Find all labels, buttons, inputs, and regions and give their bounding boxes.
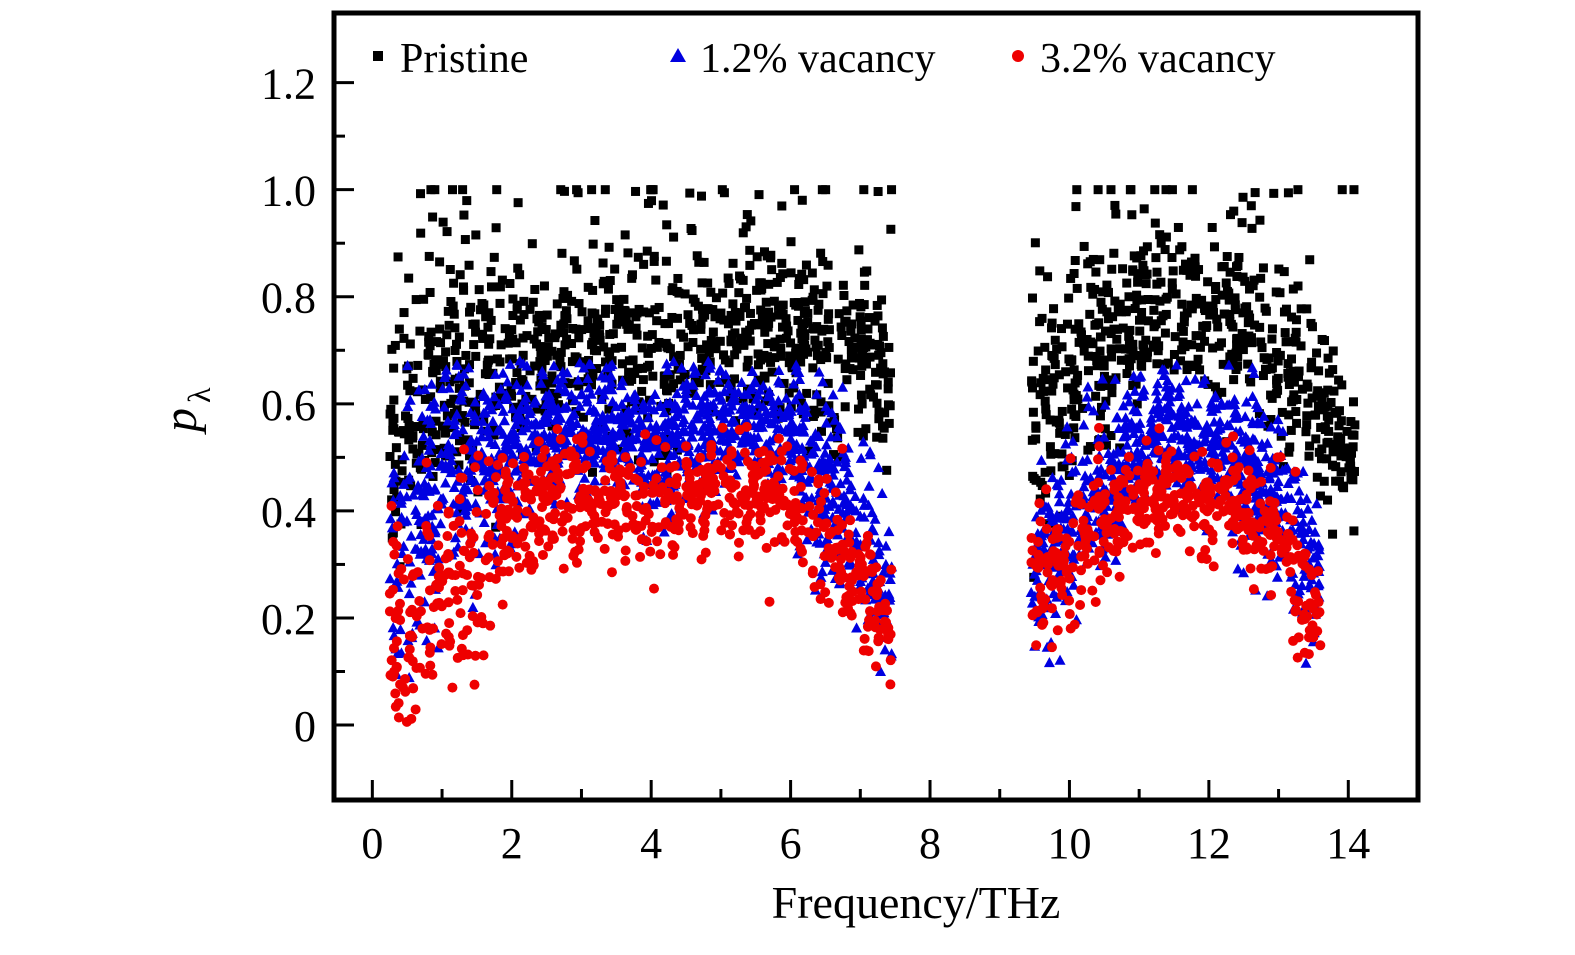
legend-label: Pristine <box>400 36 528 82</box>
x-tick-label: 4 <box>640 819 662 868</box>
x-tick-label: 12 <box>1187 819 1231 868</box>
legend-item-3[interactable]: 3.2% vacancy <box>1012 36 1276 82</box>
legend-layer: Pristine1.2% vacancy3.2% vacancy <box>373 36 1276 82</box>
y-tick-label: 0.4 <box>261 488 316 537</box>
y-tick-label: 0.2 <box>261 595 316 644</box>
y-axis-title-subscript: λ <box>181 387 217 403</box>
x-tick-label: 6 <box>780 819 802 868</box>
x-tick-label: 14 <box>1326 819 1370 868</box>
scatter-plot: Pristine1.2% vacancy3.2% vacancy 0246810… <box>0 0 1575 955</box>
x-tick-label: 8 <box>919 819 941 868</box>
legend-label: 3.2% vacancy <box>1040 36 1276 82</box>
y-tick-label: 1.2 <box>261 60 316 109</box>
y-tick-label: 1.0 <box>261 167 316 216</box>
x-tick-label: 10 <box>1047 819 1091 868</box>
y-tick-label: 0 <box>294 702 316 751</box>
legend-marker-circle <box>1012 50 1024 62</box>
y-tick-label: 0.8 <box>261 274 316 323</box>
x-axis-title: Frequency/THz <box>772 877 1061 928</box>
legend-label: 1.2% vacancy <box>700 36 936 82</box>
phonon-participation-ratio-figure: Pristine1.2% vacancy3.2% vacancy 0246810… <box>0 0 1575 955</box>
legend-marker-square <box>373 51 383 61</box>
legend-item-2[interactable]: 1.2% vacancy <box>670 36 936 82</box>
x-tick-label: 0 <box>361 819 383 868</box>
y-axis-title-base: p <box>154 408 207 435</box>
x-tick-label: 2 <box>501 819 523 868</box>
y-tick-label: 0.6 <box>261 381 316 430</box>
